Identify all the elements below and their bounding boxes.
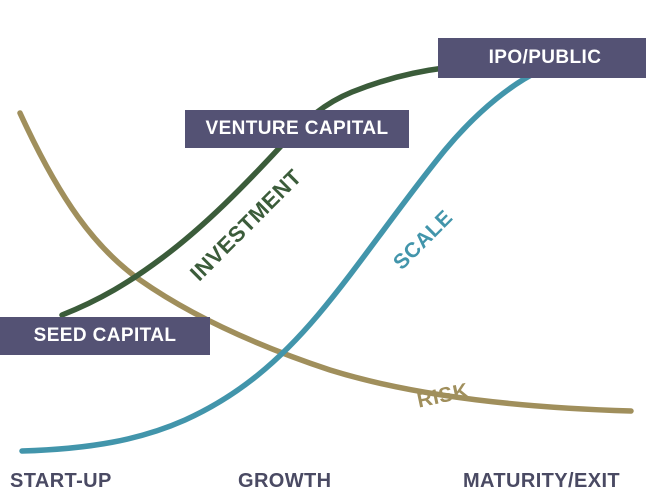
callout-ipo-public-label: IPO/PUBLIC: [489, 47, 602, 69]
x-axis-label-maturity-exit: MATURITY/EXIT: [463, 470, 620, 493]
series-investment-curve: [62, 68, 444, 315]
callout-venture-capital-label: VENTURE CAPITAL: [206, 118, 389, 140]
chart-canvas: IPO/PUBLIC VENTURE CAPITAL SEED CAPITAL …: [0, 0, 646, 501]
x-axis-label-start-up: START-UP: [10, 470, 112, 493]
callout-seed-capital-label: SEED CAPITAL: [34, 325, 177, 347]
callout-ipo-public[interactable]: IPO/PUBLIC: [438, 38, 646, 78]
callout-seed-capital[interactable]: SEED CAPITAL: [0, 317, 210, 355]
callout-venture-capital[interactable]: VENTURE CAPITAL: [185, 110, 409, 148]
series-risk-curve: [20, 113, 631, 411]
x-axis-label-growth: GROWTH: [238, 470, 332, 493]
